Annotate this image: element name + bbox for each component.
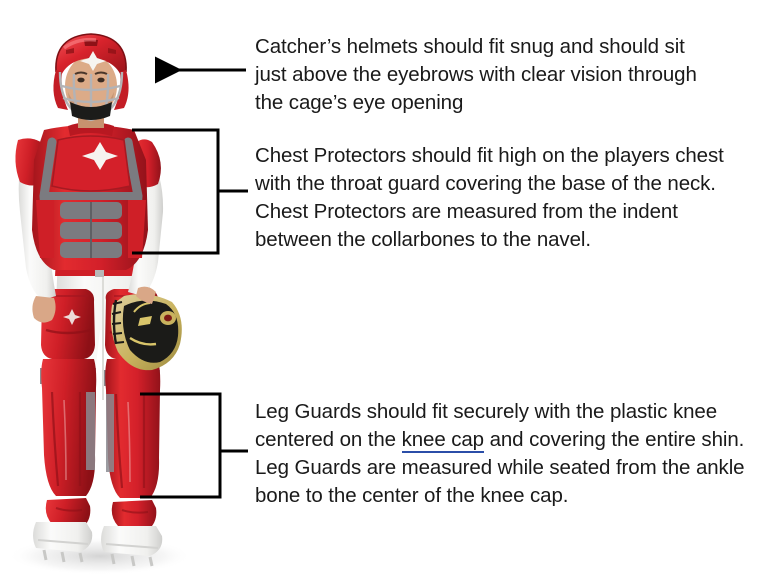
fit-guide-page: Catcher’s helmets should fit snug and sh… — [0, 0, 762, 588]
chest-protector-annotation-text: Chest Protectors should fit high on the … — [255, 142, 735, 254]
helmet-annotation-text: Catcher’s helmets should fit snug and sh… — [255, 33, 725, 117]
leg-guards-annotation-text: Leg Guards should fit securely with the … — [255, 398, 750, 510]
knee-cap-link[interactable]: knee cap — [402, 428, 484, 453]
catcher-photo — [0, 0, 250, 588]
